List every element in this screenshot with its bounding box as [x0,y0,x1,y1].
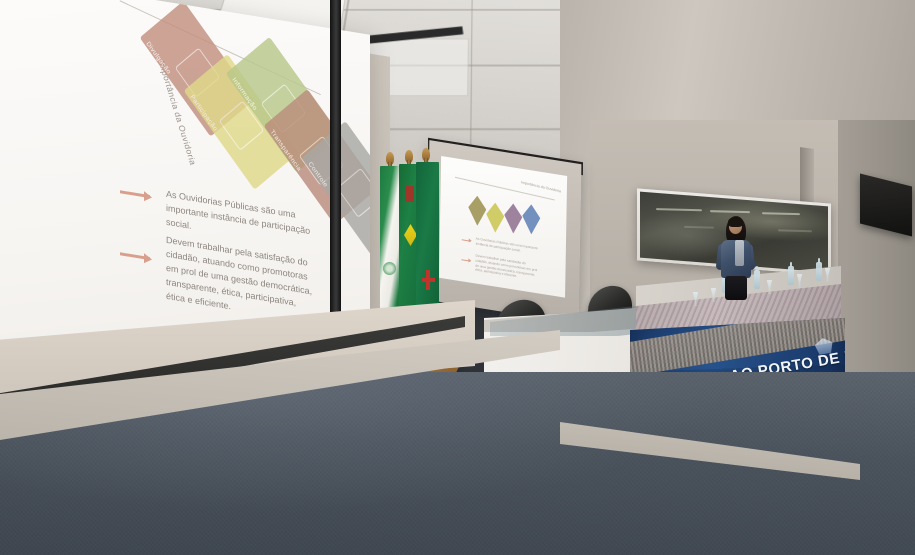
legs [725,276,747,300]
bullet-arrow-icon [120,190,150,198]
slide-title-secondary: Importância da Ouvidoria [521,180,561,193]
presenter [716,218,758,298]
water-bottle [788,266,794,285]
flag-accent [405,186,414,202]
bullet-arrow-icon [461,259,470,261]
scarf [735,240,744,266]
drinking-glass [692,292,699,306]
drinking-glass [824,268,831,282]
auditorium-scene: Importância da Ouvidoria Divulgação Part… [0,0,915,555]
slide-bullet-2-secondary: Devem trabalhar pela satisfação do cidad… [475,253,537,282]
people-icon [337,168,370,218]
flag-cross-stem [426,270,430,290]
diamond-informacao [504,202,522,235]
drinking-glass [766,280,773,294]
drinking-glass [796,274,803,288]
hair-front [728,217,743,227]
slide-bullet-1-secondary: As Ouvidorias Públicas são uma important… [476,237,538,256]
flag-emblem [383,262,396,275]
diamond-transparencia [522,203,540,236]
bullet-arrow-icon [120,252,150,260]
diamond-participacao [486,201,504,234]
bullet-arrow-icon [462,239,471,241]
diamond-divulgacao [468,195,486,228]
water-bottle [816,262,822,281]
